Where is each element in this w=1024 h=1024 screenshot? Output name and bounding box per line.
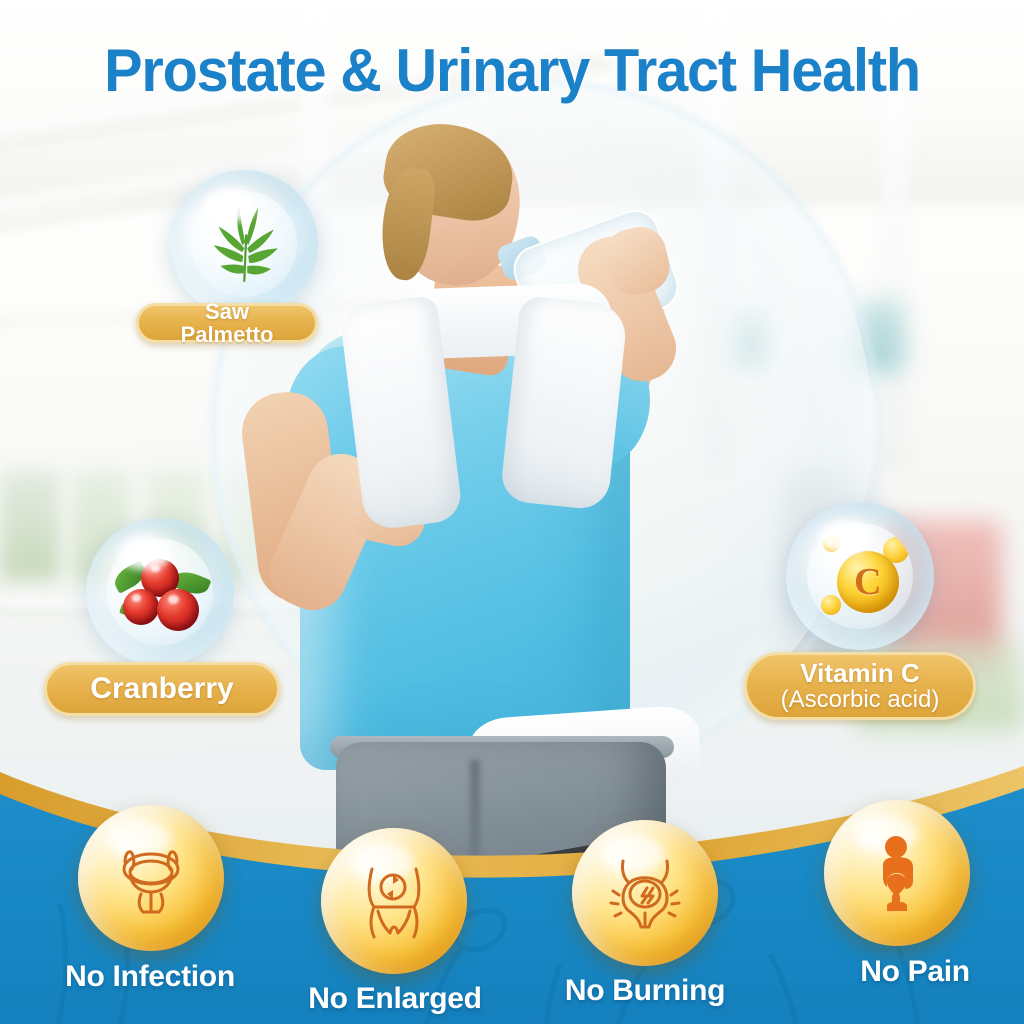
ingredient-label-saw-palmetto: Saw Palmetto <box>136 303 318 343</box>
palm-leaf-icon <box>191 191 298 298</box>
prostate-bladder-icon <box>105 832 197 924</box>
bubble-inner <box>191 191 298 298</box>
bladder-lightning-icon <box>599 847 691 939</box>
torso-refresh-icon <box>348 855 440 947</box>
ingredient-label-cranberry: Cranberry <box>44 662 280 716</box>
ingredient-sublabel-text: (Ascorbic acid) <box>781 687 940 712</box>
benefit-label-no-enlarged: No Enlarged <box>250 982 540 1016</box>
vitamin-c-droplet-icon: C <box>837 551 899 613</box>
ingredient-label-text: Saw Palmetto <box>157 300 297 346</box>
ingredient-bubble-saw-palmetto <box>170 170 318 318</box>
ingredient-bubble-cranberry <box>86 518 234 666</box>
ingredient-label-text: Vitamin C <box>800 660 919 687</box>
cranberry-icon <box>157 589 199 631</box>
benefit-capsule-no-infection <box>78 805 224 951</box>
person-discomfort-icon <box>851 827 943 919</box>
ingredient-label-text: Cranberry <box>90 673 233 705</box>
towel-right <box>500 295 629 511</box>
vitamin-c-droplet-small-icon <box>823 535 840 552</box>
benefit-capsule-no-enlarged <box>321 828 467 974</box>
product-infographic: Prostate & Urinary Tract Health <box>0 0 1024 1024</box>
bubble-inner: C <box>807 523 914 630</box>
page-title: Prostate & Urinary Tract Health <box>20 36 1003 105</box>
cranberry-icon <box>123 589 159 625</box>
bubble-inner <box>107 539 214 646</box>
ingredient-bubble-vitamin-c: C <box>786 502 934 650</box>
ingredient-label-vitamin-c: Vitamin C (Ascorbic acid) <box>744 652 976 720</box>
vitamin-c-droplet-small-icon <box>821 595 841 615</box>
benefit-label-no-pain: No Pain <box>770 955 1024 989</box>
vitamin-c-letter: C <box>854 563 881 601</box>
benefit-label-no-burning: No Burning <box>500 974 790 1008</box>
benefit-capsule-no-pain <box>824 800 970 946</box>
benefit-capsule-no-burning <box>572 820 718 966</box>
